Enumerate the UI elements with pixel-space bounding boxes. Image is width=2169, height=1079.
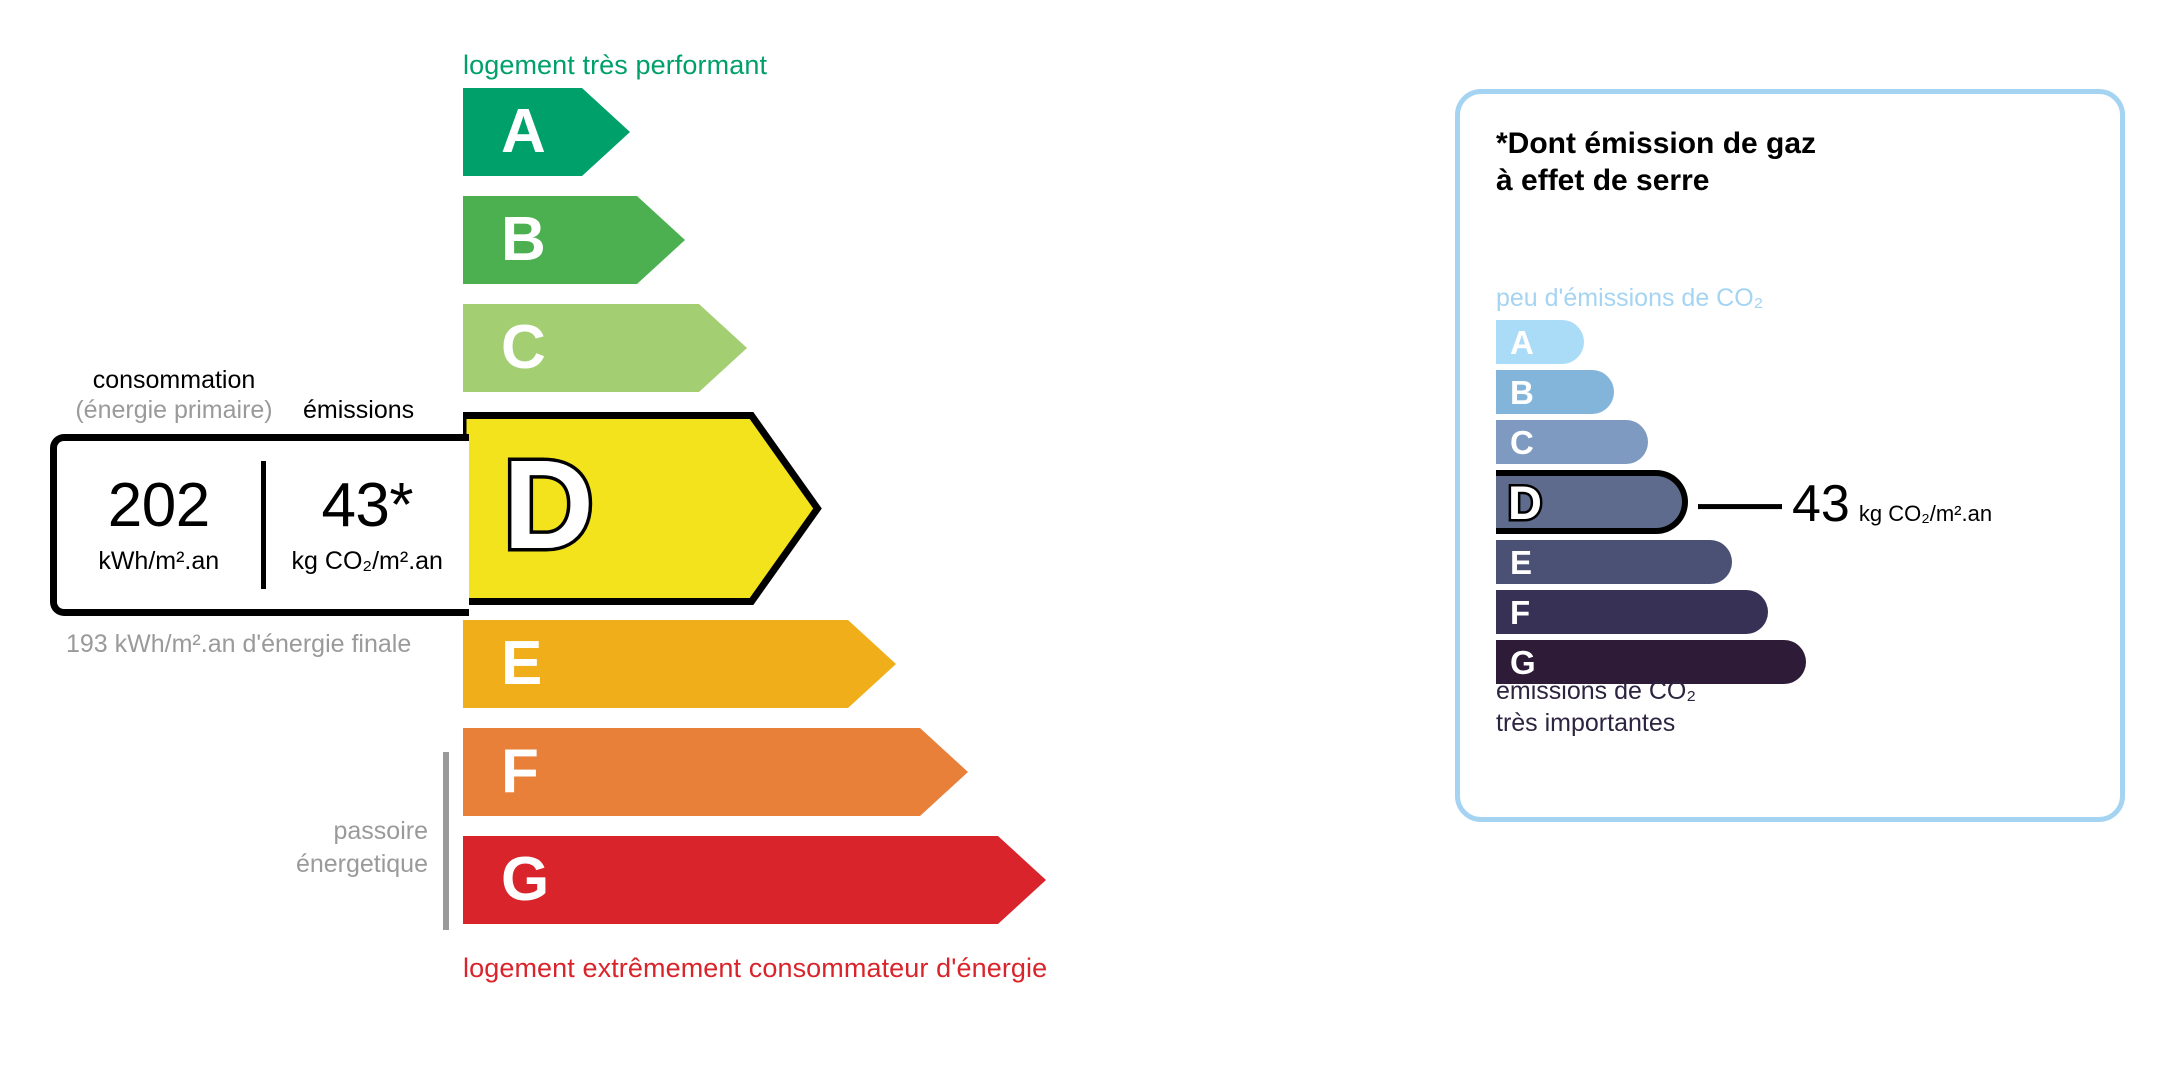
co2-band-f: F xyxy=(1496,590,2096,634)
energy-band-arrow-f: F xyxy=(463,728,968,816)
energy-band-b: B xyxy=(463,196,1263,284)
co2-band-b: B xyxy=(1496,370,2096,414)
energy-band-g: G xyxy=(463,836,1263,924)
co2-bar-list: ABCD43kg CO₂/m².anEFG xyxy=(1496,320,2096,690)
co2-band-bar-a: A xyxy=(1496,320,1584,364)
energy-band-arrow-g: G xyxy=(463,836,1046,924)
label-energie-primaire: (énergie primaire) xyxy=(44,396,304,426)
final-energy-footnote: 193 kWh/m².an d'énergie finale xyxy=(66,628,411,661)
co2-band-letter-d: D xyxy=(1508,479,1542,526)
co2-band-letter-b: B xyxy=(1510,376,1534,409)
label-consommation: consommation xyxy=(64,366,284,396)
emission-unit: kg CO₂/m².an xyxy=(272,547,464,576)
co2-band-c: C xyxy=(1496,420,2096,464)
energy-scale-panel: logement très performant ABCDEFG logemen… xyxy=(0,0,1400,1079)
energy-ladder: ABCDEFG xyxy=(463,88,1263,944)
co2-band-letter-f: F xyxy=(1510,596,1530,629)
co2-band-letter-g: G xyxy=(1510,646,1536,679)
dpe-page: logement très performant ABCDEFG logemen… xyxy=(0,0,2169,1079)
energy-band-arrow-a: A xyxy=(463,88,630,176)
co2-callout-value: 43 xyxy=(1792,478,1850,530)
co2-band-e: E xyxy=(1496,540,2096,584)
energy-band-e: E xyxy=(463,620,1263,708)
co2-band-bar-c: C xyxy=(1496,420,1648,464)
scale-caption-bottom: logement extrêmement consommateur d'éner… xyxy=(463,953,1047,984)
consumption-unit: kWh/m².an xyxy=(63,547,255,576)
energy-band-arrow-e: E xyxy=(463,620,896,708)
energy-band-arrow-c: C xyxy=(463,304,747,392)
co2-band-a: A xyxy=(1496,320,2096,364)
co2-band-letter-a: A xyxy=(1510,326,1534,359)
co2-band-bar-b: B xyxy=(1496,370,1614,414)
passoire-label: passoire énergetique xyxy=(200,815,428,880)
co2-band-letter-e: E xyxy=(1510,546,1532,579)
co2-band-bar-f: F xyxy=(1496,590,1768,634)
co2-band-d: D43kg CO₂/m².an xyxy=(1496,470,2096,534)
co2-band-letter-c: C xyxy=(1510,426,1534,459)
energy-band-c: C xyxy=(463,304,1263,392)
co2-callout: 43kg CO₂/m².an xyxy=(1698,478,1992,530)
energy-band-f: F xyxy=(463,728,1263,816)
co2-band-bar-e: E xyxy=(1496,540,1732,584)
energy-band-a: A xyxy=(463,88,1263,176)
co2-callout-unit: kg CO₂/m².an xyxy=(1859,501,1992,527)
energy-band-letter-d: D xyxy=(503,442,594,568)
co2-panel-title: *Dont émission de gaz à effet de serre xyxy=(1496,126,1816,199)
label-emissions: émissions xyxy=(303,396,414,426)
passoire-bracket xyxy=(443,752,449,930)
energy-band-letter-f: F xyxy=(501,741,539,803)
co2-caption-top: peu d'émissions de CO₂ xyxy=(1496,284,1763,313)
energy-band-letter-b: B xyxy=(501,209,546,271)
energy-band-arrow-b: B xyxy=(463,196,685,284)
scale-caption-top: logement très performant xyxy=(463,50,767,81)
energy-band-letter-a: A xyxy=(501,101,546,163)
emission-cell: 43* kg CO₂/m².an xyxy=(266,475,470,576)
consumption-value: 202 xyxy=(63,475,255,537)
energy-band-d: D xyxy=(463,412,823,598)
co2-caption-bottom: émissions de CO₂ très importantes xyxy=(1496,676,1696,739)
energy-band-letter-g: G xyxy=(501,849,549,911)
energy-band-letter-e: E xyxy=(501,633,542,695)
co2-panel: *Dont émission de gaz à effet de serre p… xyxy=(1455,89,2125,822)
consumption-cell: 202 kWh/m².an xyxy=(57,475,261,576)
energy-band-letter-c: C xyxy=(501,317,546,379)
co2-band-bar-d: D xyxy=(1496,470,1688,534)
emission-value: 43* xyxy=(272,475,464,537)
value-box: 202 kWh/m².an 43* kg CO₂/m².an xyxy=(50,434,469,616)
co2-leader-line xyxy=(1698,504,1782,509)
